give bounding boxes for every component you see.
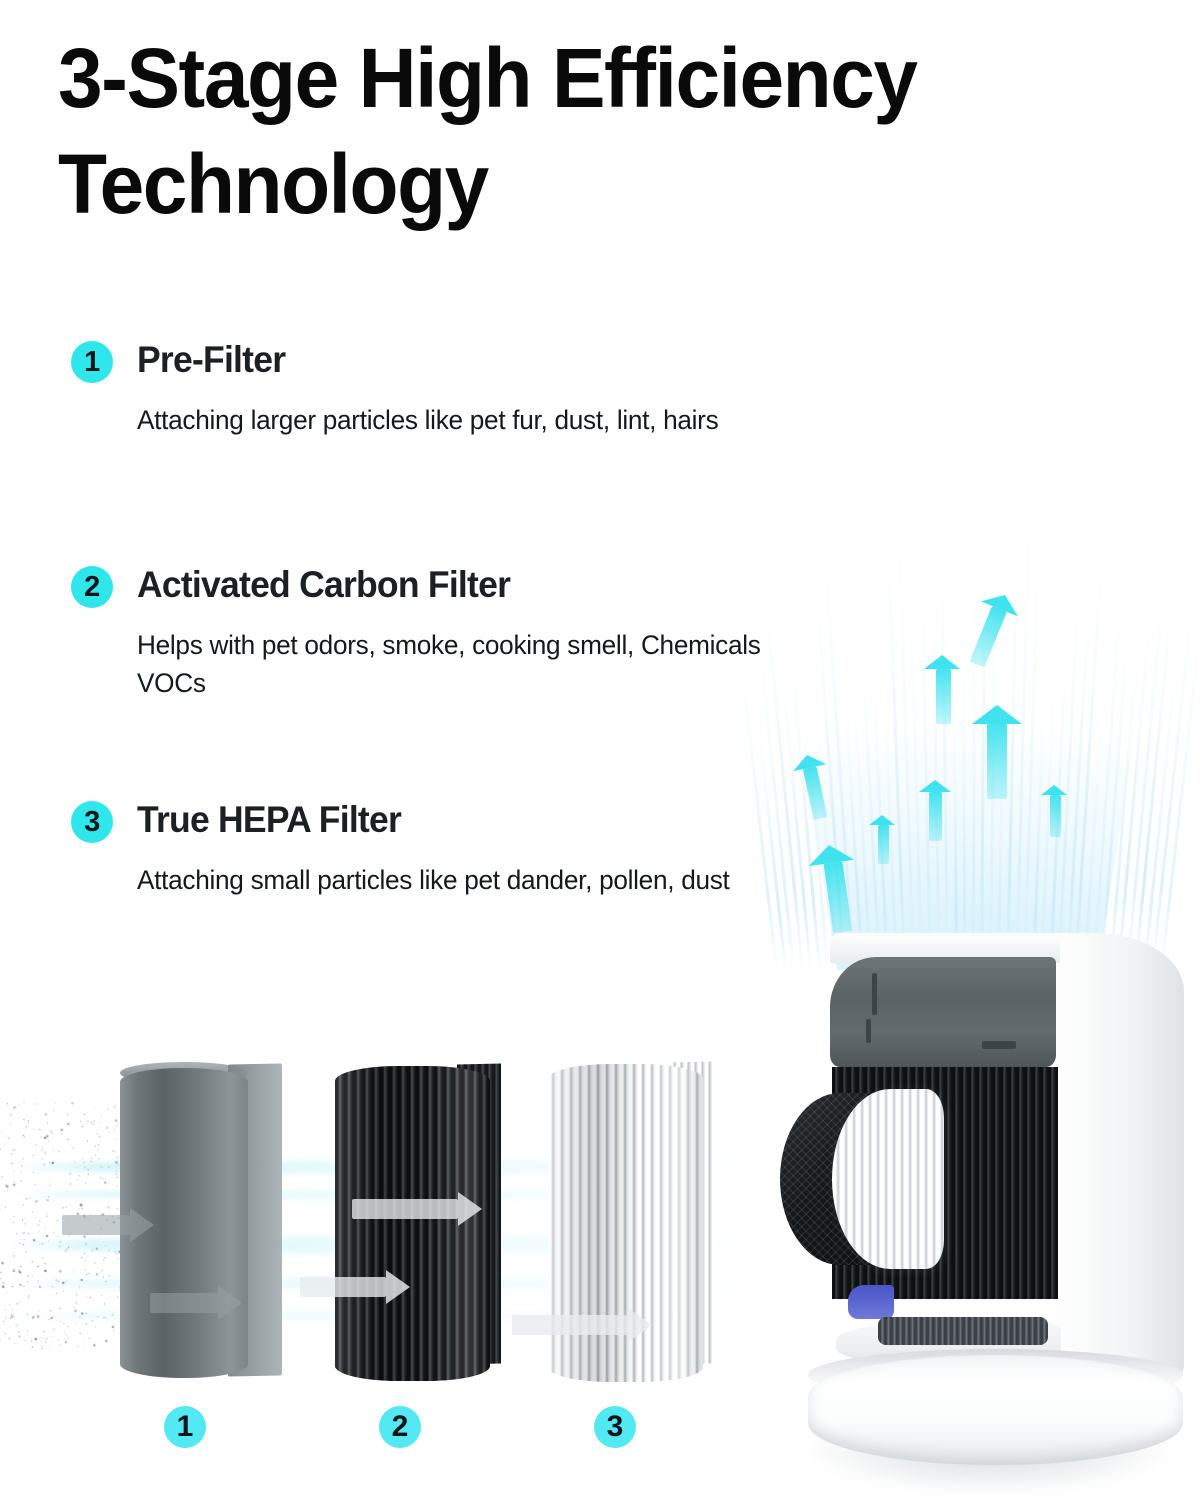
plume-streak — [1126, 564, 1167, 970]
plume-streak — [1092, 540, 1127, 970]
plume-streak — [1100, 614, 1131, 970]
plume-streak — [1117, 621, 1151, 970]
plume-streak — [897, 516, 915, 970]
feature-title: Activated Carbon Filter — [137, 564, 510, 606]
product-base — [808, 1355, 1183, 1465]
plume-streak — [1015, 513, 1031, 970]
airflow-arrow-right — [62, 1208, 154, 1242]
plume-streak — [1066, 589, 1091, 970]
feature-description: Attaching larger particles like pet fur,… — [137, 401, 777, 439]
motor-slot — [982, 1041, 1016, 1049]
plume-streak — [930, 563, 940, 970]
page-title: 3-Stage High Efficiency Technology — [58, 26, 1099, 238]
plume-streak — [823, 550, 855, 970]
product-blue-trim — [848, 1285, 894, 1319]
product-air-intake-vent — [878, 1317, 1048, 1345]
plume-streak — [1023, 521, 1041, 970]
feature-title: True HEPA Filter — [137, 799, 401, 841]
plume-streak — [817, 606, 847, 970]
feature-number-badge: 2 — [71, 566, 113, 608]
air-purifier-product-image — [770, 925, 1200, 1500]
filter-stack-diagram — [0, 1040, 760, 1440]
airflow-arrow-right — [512, 1308, 652, 1342]
feature-heading: 3 True HEPA Filter — [71, 801, 811, 847]
plume-streak — [1006, 580, 1018, 970]
feature-item-activated-carbon-filter: 2 Activated Carbon Filter Helps with pet… — [71, 566, 811, 703]
plume-streak — [989, 538, 997, 970]
plume-streak — [887, 542, 906, 970]
feature-item-true-hepa-filter: 3 True HEPA Filter Attaching small parti… — [71, 801, 811, 899]
product-fan-motor-housing — [830, 957, 1056, 1067]
feature-title: Pre-Filter — [137, 339, 285, 381]
feature-number-badge: 1 — [71, 341, 113, 383]
feature-heading: 2 Activated Carbon Filter — [71, 566, 811, 612]
plume-streak — [940, 516, 949, 970]
diagram-number-badge-2: 2 — [379, 1406, 421, 1448]
plume-streak — [1151, 599, 1194, 970]
plume-streak — [972, 582, 976, 970]
plume-streak — [1057, 578, 1081, 970]
plume-streak — [980, 562, 986, 970]
plume-streak — [962, 663, 966, 970]
plume-streak — [1109, 647, 1139, 970]
plume-streak — [1074, 568, 1102, 970]
plume-streak — [1160, 616, 1200, 970]
plume-streak — [1134, 604, 1173, 970]
diagram-number-badge-1: 1 — [164, 1406, 206, 1448]
feature-heading: 1 Pre-Filter — [71, 341, 811, 387]
airflow-arrow-right — [150, 1286, 242, 1320]
feature-description: Attaching small particles like pet dande… — [137, 861, 777, 899]
plume-streak — [1049, 662, 1067, 970]
feature-number-badge: 3 — [71, 801, 113, 843]
motor-slot — [866, 1019, 871, 1043]
infographic-page: 3-Stage High Efficiency Technology 1 Pre… — [0, 0, 1200, 1500]
plume-streak — [860, 641, 880, 970]
diagram-number-badge-3: 3 — [594, 1406, 636, 1448]
plume-streak — [920, 552, 932, 970]
airflow-arrow-right — [300, 1270, 410, 1304]
motor-slot — [872, 973, 877, 1015]
feature-item-pre-filter: 1 Pre-Filter Attaching larger particles … — [71, 341, 811, 439]
feature-description: Helps with pet odors, smoke, cooking sme… — [137, 626, 777, 703]
plume-streak — [910, 578, 924, 970]
plume-streak — [1040, 644, 1057, 970]
product-hepa-filter-layer — [832, 1089, 944, 1269]
airflow-arrow-right — [352, 1192, 482, 1226]
